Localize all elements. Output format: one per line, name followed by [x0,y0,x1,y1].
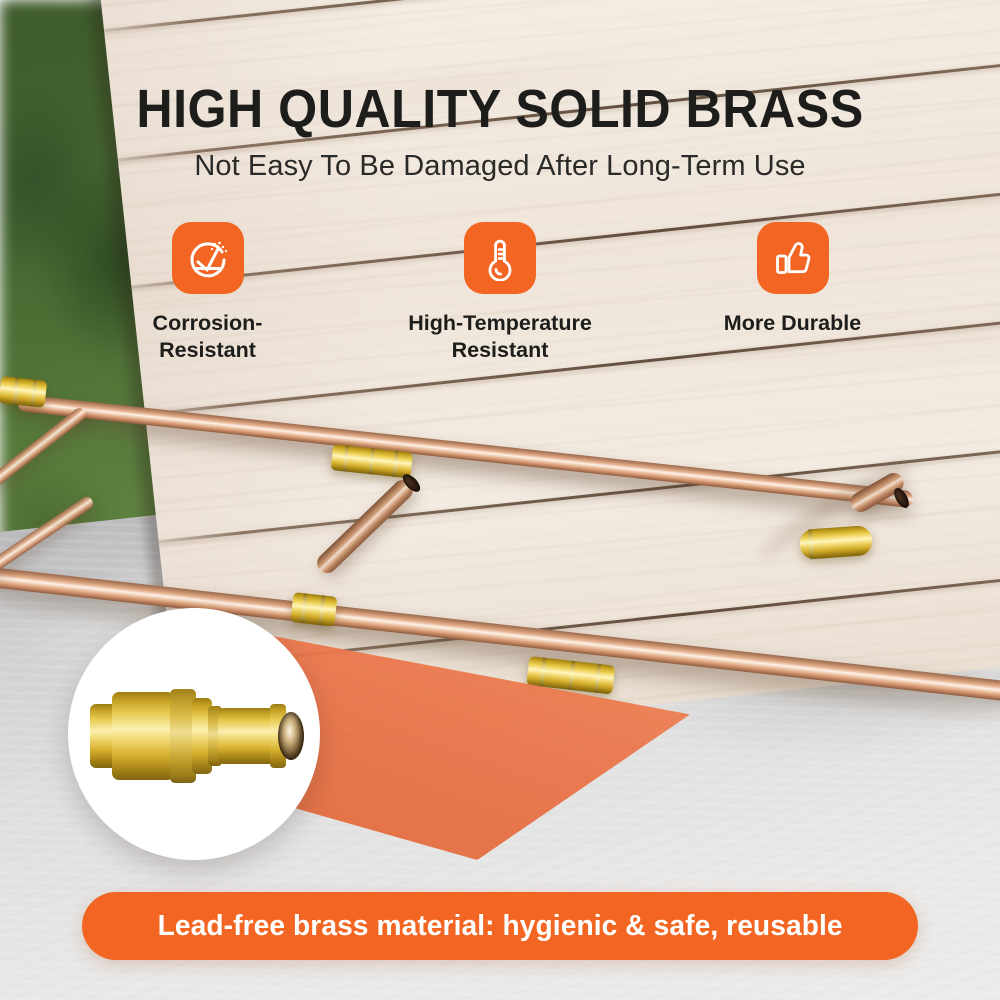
feature-label: More Durable [724,310,861,337]
feature-item-corrosion-resistant: Corrosion- Resistant [100,222,315,363]
product-callout-circle [68,608,320,860]
feature-label-line1: High-Temperature [408,311,592,335]
feature-label: Corrosion- Resistant [153,310,263,363]
feature-item-high-temperature-resistant: High-Temperature Resistant [393,222,608,363]
feature-label-line1: Corrosion- [153,311,263,335]
brass-tee-lower [290,592,337,627]
brass-elbow-upper-left [0,376,47,408]
thumbs-up-icon [757,222,829,294]
corrosion-resistant-icon [172,222,244,294]
feature-label-line1: More Durable [724,311,861,335]
page-title: HIGH QUALITY SOLID BRASS [35,78,965,140]
thermometer-icon [464,222,536,294]
page-subtitle: Not Easy To Be Damaged After Long-Term U… [0,150,1000,183]
brass-elbow-right [799,525,873,560]
feature-list: Corrosion- Resistant High-Temperature Re… [100,222,900,363]
brass-coupling-product [90,686,302,786]
feature-label-line2: Resistant [159,338,256,362]
feature-label: High-Temperature Resistant [408,310,592,363]
feature-item-more-durable: More Durable [685,222,900,363]
feature-label-line2: Resistant [452,338,549,362]
bottom-banner: Lead-free brass material: hygienic & saf… [82,892,918,960]
banner-text: Lead-free brass material: hygienic & saf… [157,910,842,943]
product-marketing-image: HIGH QUALITY SOLID BRASS Not Easy To Be … [0,0,1000,1000]
